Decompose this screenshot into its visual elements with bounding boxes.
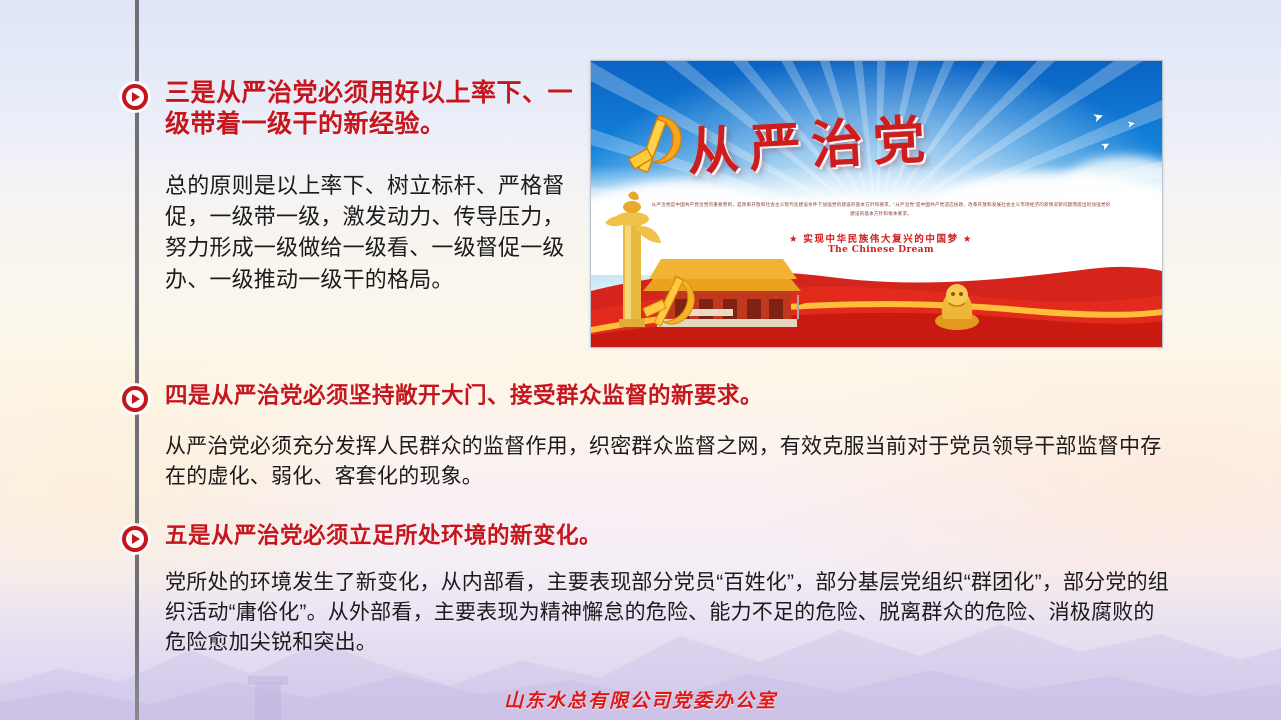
poster-image: ➤ ➤ ➤ 从严治党 从严治党是中国共产党治党的重要原则，是改革开放和社会主义现… <box>590 60 1163 348</box>
section-heading-3: 三是从严治党必须用好以上率下、一级带着一级干的新经验。 <box>165 78 585 139</box>
golden-lion-icon <box>927 277 987 333</box>
tiananmen-illustration <box>591 187 881 337</box>
section-marker-3[interactable] <box>120 82 150 112</box>
play-circle-icon <box>122 386 148 412</box>
section-marker-4[interactable] <box>120 384 150 414</box>
dove-icon: ➤ <box>1126 118 1136 130</box>
section-heading-4: 四是从严治党必须坚持敞开大门、接受群众监督的新要求。 <box>165 382 885 409</box>
play-circle-icon <box>122 84 148 110</box>
hammer-sickle-icon <box>619 109 695 181</box>
play-circle-icon <box>122 526 148 552</box>
section-body-5: 党所处的环境发生了新变化，从内部看，主要表现部分党员“百姓化”，部分基层党组织“… <box>165 568 1170 657</box>
section-body-3: 总的原则是以上率下、树立标杆、严格督促，一级带一级，激发动力、传导压力，努力形成… <box>165 170 570 295</box>
section-marker-5[interactable] <box>120 524 150 554</box>
section-body-4: 从严治党必须充分发挥人民群众的监督作用，织密群众监督之网，有效克服当前对于党员领… <box>165 432 1165 492</box>
section-heading-5: 五是从严治党必须立足所处环境的新变化。 <box>165 522 785 549</box>
footer-organization: 山东水总有限公司党委办公室 <box>0 686 1281 713</box>
slide-canvas: 三是从严治党必须用好以上率下、一级带着一级干的新经验。 总的原则是以上率下、树立… <box>0 0 1281 720</box>
